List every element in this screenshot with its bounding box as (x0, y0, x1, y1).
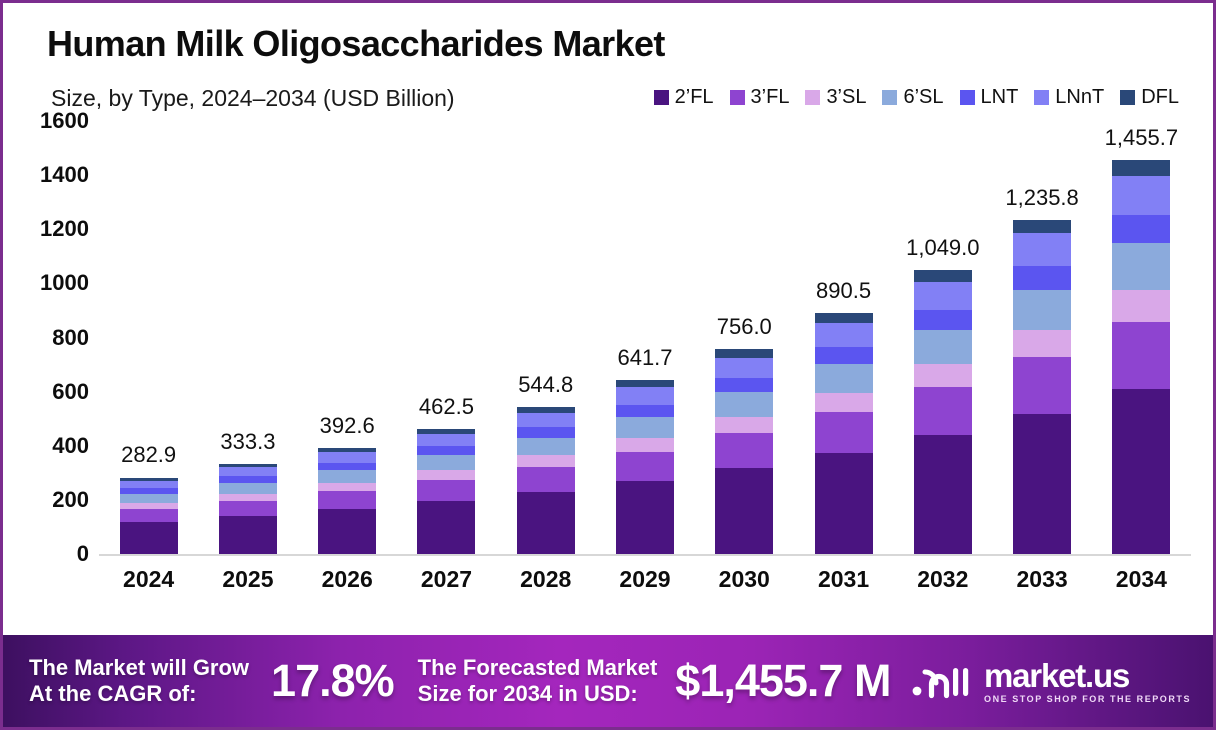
bar-stack (815, 313, 873, 554)
bar-stack (417, 429, 475, 554)
legend-swatch-icon (654, 90, 669, 105)
bar-group[interactable]: 1,049.0 (914, 270, 972, 554)
bar-segment-6SL[interactable] (219, 483, 277, 494)
bar-segment-3SL[interactable] (1112, 290, 1170, 322)
y-axis-tick-label: 0 (77, 541, 89, 567)
x-axis-tick-label: 2026 (322, 566, 373, 593)
y-axis-tick-label: 1600 (40, 108, 89, 134)
bar-segment-2FL[interactable] (219, 516, 277, 554)
bar-segment-3FL[interactable] (517, 467, 575, 492)
bar-segment-LNT[interactable] (914, 310, 972, 330)
bar-total-label: 756.0 (717, 314, 772, 340)
bar-segment-6SL[interactable] (517, 438, 575, 456)
bar-segment-LNnT[interactable] (1112, 176, 1170, 215)
legend-label: 2’FL (675, 87, 714, 107)
legend-item-LNnT[interactable]: LNnT (1034, 87, 1104, 107)
bar-segment-3SL[interactable] (715, 417, 773, 433)
bar-stack (715, 349, 773, 554)
bar-segment-3FL[interactable] (219, 501, 277, 516)
bar-total-label: 641.7 (617, 345, 672, 371)
legend-label: 3’FL (751, 87, 790, 107)
legend-swatch-icon (1120, 90, 1135, 105)
bar-segment-LNT[interactable] (815, 347, 873, 364)
forecast-label-line1: The Forecasted Market (418, 655, 658, 681)
bar-segment-LNT[interactable] (715, 378, 773, 392)
legend-item-6SL[interactable]: 6’SL (882, 87, 943, 107)
y-axis-tick-label: 1200 (40, 216, 89, 242)
y-axis-tick-label: 600 (52, 379, 89, 405)
legend-swatch-icon (960, 90, 975, 105)
x-axis-tick-label: 2029 (619, 566, 670, 593)
bar-segment-3SL[interactable] (219, 494, 277, 501)
forecast-label: The Forecasted Market Size for 2034 in U… (418, 655, 658, 706)
y-axis-tick-label: 1000 (40, 270, 89, 296)
bar-total-label: 392.6 (320, 413, 375, 439)
bar-segment-6SL[interactable] (417, 455, 475, 470)
bar-total-label: 1,455.7 (1105, 125, 1178, 151)
bar-segment-LNT[interactable] (1013, 266, 1071, 289)
bar-segment-2FL[interactable] (120, 522, 178, 554)
bar-total-label: 282.9 (121, 442, 176, 468)
page-title: Human Milk Oligosaccharides Market (47, 23, 665, 65)
market-us-logo-icon (911, 660, 973, 702)
bar-segment-LNnT[interactable] (318, 452, 376, 463)
bar-segment-6SL[interactable] (914, 330, 972, 364)
x-axis-line (99, 554, 1191, 556)
bar-segment-LNT[interactable] (417, 446, 475, 455)
bar-group[interactable]: 392.6 (318, 448, 376, 554)
legend-swatch-icon (730, 90, 745, 105)
bar-stack (616, 380, 674, 554)
legend-label: LNnT (1055, 87, 1104, 107)
bar-segment-LNnT[interactable] (517, 413, 575, 428)
bar-segment-LNT[interactable] (318, 463, 376, 470)
bar-segment-3FL[interactable] (815, 412, 873, 453)
x-axis-tick-label: 2033 (1016, 566, 1067, 593)
bar-segment-LNnT[interactable] (914, 282, 972, 310)
bar-total-label: 890.5 (816, 278, 871, 304)
x-axis: 2024202520262027202820292030203120322033… (99, 566, 1191, 606)
bar-segment-LNT[interactable] (1112, 215, 1170, 243)
bar-total-label: 333.3 (220, 429, 275, 455)
bar-group[interactable]: 641.7 (616, 380, 674, 554)
bar-segment-6SL[interactable] (1112, 243, 1170, 290)
bar-stack (914, 270, 972, 554)
chart-card: Human Milk Oligosaccharides Market Size,… (0, 0, 1216, 730)
x-axis-tick-label: 2032 (917, 566, 968, 593)
bar-segment-2FL[interactable] (1112, 389, 1170, 554)
bar-segment-LNnT[interactable] (120, 481, 178, 489)
legend-label: DFL (1141, 87, 1179, 107)
bar-segment-DFL[interactable] (616, 380, 674, 387)
y-axis: 02004006008001000120014001600 (3, 121, 99, 561)
bar-group[interactable]: 1,235.8 (1013, 220, 1071, 554)
bar-group[interactable]: 756.0 (715, 349, 773, 554)
bar-segment-3SL[interactable] (914, 364, 972, 387)
bar-segment-LNnT[interactable] (417, 434, 475, 447)
x-axis-tick-label: 2025 (222, 566, 273, 593)
bar-segment-3SL[interactable] (1013, 330, 1071, 357)
bar-stack (318, 448, 376, 554)
chart-header: Human Milk Oligosaccharides Market Size,… (3, 3, 1213, 121)
brand-logo: market.us ONE STOP SHOP FOR THE REPORTS (911, 659, 1191, 704)
legend-label: LNT (981, 87, 1019, 107)
bar-group[interactable]: 282.9 (120, 477, 178, 554)
bar-segment-2FL[interactable] (715, 468, 773, 554)
bar-segment-2FL[interactable] (318, 509, 376, 554)
x-axis-tick-label: 2028 (520, 566, 571, 593)
legend-swatch-icon (805, 90, 820, 105)
bars-container: 282.9333.3392.6462.5544.8641.7756.0890.5… (99, 121, 1191, 554)
x-axis-tick-label: 2027 (421, 566, 472, 593)
bar-group[interactable]: 333.3 (219, 464, 277, 554)
footer-banner: The Market will Grow At the CAGR of: 17.… (3, 635, 1213, 727)
bar-segment-2FL[interactable] (616, 481, 674, 554)
bar-segment-LNnT[interactable] (1013, 233, 1071, 266)
bar-segment-DFL[interactable] (914, 270, 972, 281)
y-axis-tick-label: 800 (52, 325, 89, 351)
legend-swatch-icon (882, 90, 897, 105)
y-axis-tick-label: 400 (52, 433, 89, 459)
bar-segment-3SL[interactable] (517, 455, 575, 467)
bar-segment-2FL[interactable] (815, 453, 873, 554)
bar-stack (517, 407, 575, 554)
bar-segment-3FL[interactable] (1013, 357, 1071, 414)
bar-total-label: 1,049.0 (906, 235, 979, 261)
bar-segment-DFL[interactable] (715, 349, 773, 357)
bar-segment-LNT[interactable] (517, 427, 575, 437)
bar-stack (1112, 160, 1170, 554)
cagr-value: 17.8% (271, 655, 394, 707)
bar-segment-DFL[interactable] (815, 313, 873, 323)
legend-item-LNT[interactable]: LNT (960, 87, 1019, 107)
forecast-label-line2: Size for 2034 in USD: (418, 681, 658, 707)
bar-segment-3FL[interactable] (417, 480, 475, 501)
bar-segment-6SL[interactable] (715, 392, 773, 417)
plot-area: 02004006008001000120014001600 282.9333.3… (3, 121, 1213, 616)
cagr-label-line2: At the CAGR of: (29, 681, 249, 707)
bar-total-label: 1,235.8 (1005, 185, 1078, 211)
chart-subtitle: Size, by Type, 2024–2034 (USD Billion) (51, 85, 455, 112)
legend-label: 3’SL (826, 87, 866, 107)
brand-tagline: ONE STOP SHOP FOR THE REPORTS (984, 695, 1191, 704)
bar-segment-3SL[interactable] (417, 470, 475, 480)
chart-legend: 2’FL3’FL3’SL6’SLLNTLNnTDFL (654, 87, 1179, 107)
legend-item-DFL[interactable]: DFL (1120, 87, 1179, 107)
bar-segment-3SL[interactable] (318, 483, 376, 491)
bar-segment-LNnT[interactable] (815, 323, 873, 347)
bar-group[interactable]: 890.5 (815, 313, 873, 554)
x-axis-tick-label: 2030 (719, 566, 770, 593)
forecast-value: $1,455.7 M (675, 655, 890, 707)
bar-segment-6SL[interactable] (616, 417, 674, 438)
bar-stack (1013, 220, 1071, 554)
bar-segment-2FL[interactable] (914, 435, 972, 554)
x-axis-tick-label: 2031 (818, 566, 869, 593)
bar-segment-3SL[interactable] (616, 438, 674, 452)
brand-text: market.us ONE STOP SHOP FOR THE REPORTS (984, 659, 1191, 704)
bar-segment-3FL[interactable] (1112, 322, 1170, 389)
bar-stack (219, 464, 277, 554)
bar-segment-LNnT[interactable] (616, 387, 674, 404)
cagr-label: The Market will Grow At the CAGR of: (29, 655, 249, 706)
x-axis-tick-label: 2024 (123, 566, 174, 593)
bar-segment-2FL[interactable] (417, 501, 475, 554)
bar-segment-6SL[interactable] (815, 364, 873, 393)
bar-segment-DFL[interactable] (1112, 160, 1170, 176)
bar-group[interactable]: 462.5 (417, 429, 475, 554)
bar-segment-LNT[interactable] (616, 405, 674, 417)
bar-segment-3FL[interactable] (715, 433, 773, 468)
legend-item-3SL[interactable]: 3’SL (805, 87, 866, 107)
bar-stack (120, 477, 178, 554)
bar-segment-3SL[interactable] (815, 393, 873, 412)
bar-total-label: 544.8 (518, 372, 573, 398)
bar-segment-LNnT[interactable] (219, 467, 277, 476)
bar-group[interactable]: 544.8 (517, 407, 575, 554)
bar-segment-3FL[interactable] (616, 452, 674, 482)
bar-segment-2FL[interactable] (517, 492, 575, 554)
bar-segment-3FL[interactable] (914, 387, 972, 435)
bar-total-label: 462.5 (419, 394, 474, 420)
legend-swatch-icon (1034, 90, 1049, 105)
bar-segment-6SL[interactable] (318, 470, 376, 483)
bar-segment-2FL[interactable] (1013, 414, 1071, 554)
bar-segment-3FL[interactable] (120, 509, 178, 522)
legend-item-3FL[interactable]: 3’FL (730, 87, 790, 107)
x-axis-tick-label: 2034 (1116, 566, 1167, 593)
bar-segment-DFL[interactable] (1013, 220, 1071, 233)
bar-segment-3FL[interactable] (318, 491, 376, 509)
bar-segment-6SL[interactable] (1013, 290, 1071, 330)
cagr-label-line1: The Market will Grow (29, 655, 249, 681)
legend-label: 6’SL (903, 87, 943, 107)
brand-name: market.us (984, 659, 1191, 692)
y-axis-tick-label: 200 (52, 487, 89, 513)
bar-segment-6SL[interactable] (120, 494, 178, 503)
bar-group[interactable]: 1,455.7 (1112, 160, 1170, 554)
bar-segment-LNnT[interactable] (715, 358, 773, 378)
legend-item-2FL[interactable]: 2’FL (654, 87, 714, 107)
y-axis-tick-label: 1400 (40, 162, 89, 188)
